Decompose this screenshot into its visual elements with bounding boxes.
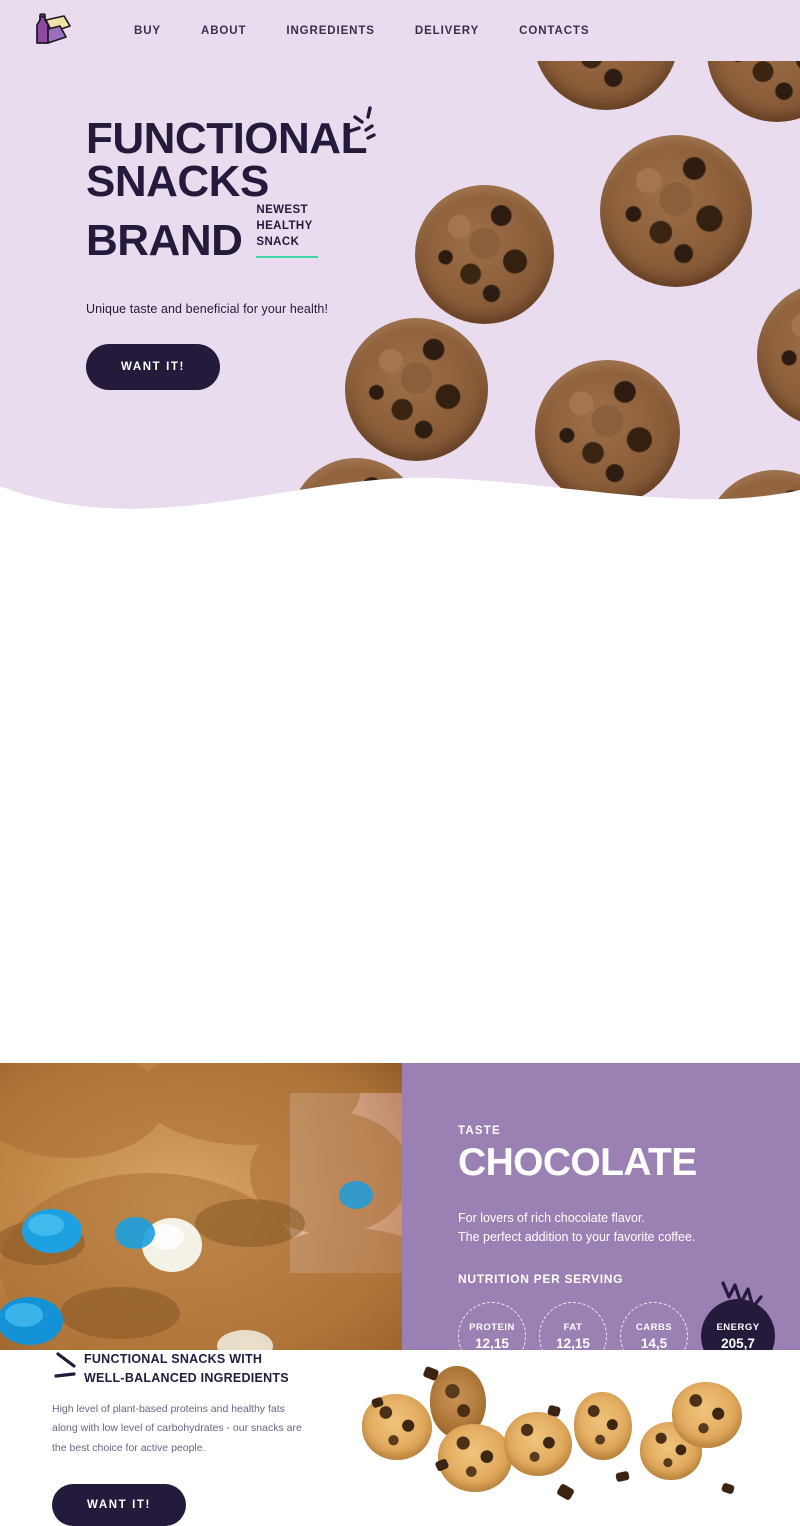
hero-title-line-3: BRAND [86,220,242,263]
taste-description: For lovers of rich chocolate flavor. The… [458,1209,800,1247]
taste-description-line-1: For lovers of rich chocolate flavor. [458,1211,645,1225]
feature-cta-button[interactable]: WANT IT! [52,1484,186,1526]
hero-tagline-line-1: NEWEST [256,203,318,219]
taste-section: TASTE CHOCOLATE For lovers of rich choco… [0,1063,800,1350]
nutrition-value: 205,7 [721,1336,755,1350]
hero-tagline-line-3: SNACK [256,235,318,251]
nutrition-key: FAT [564,1322,583,1333]
hero-section: BUY ABOUT INGREDIENTS DELIVERY CONTACTS … [0,0,800,532]
cookie-closeup-photo [0,1063,402,1350]
nav-link-about[interactable]: ABOUT [181,19,266,43]
hero-subtitle: Unique taste and beneficial for your hea… [86,302,367,316]
taste-label: TASTE [458,1125,800,1137]
zigzag-burst-icon [717,1275,767,1327]
nutrition-key: CARBS [636,1322,672,1333]
nutrition-item-protein: PROTEIN 12,15 [458,1302,526,1350]
nutrition-item-energy: ENERGY 205,7 [701,1299,775,1350]
taste-description-line-2: The perfect addition to your favorite co… [458,1230,695,1244]
nutrition-value: 14,5 [641,1336,667,1350]
nutrition-value: 12,15 [475,1336,509,1350]
taste-name: CHOCOLATE [458,1143,800,1184]
nutrition-list: PROTEIN 12,15 FAT 12,15 CARBS 14,5 ENERG… [458,1302,800,1350]
nav-link-delivery[interactable]: DELIVERY [395,19,499,43]
nutrition-key: PROTEIN [469,1322,515,1333]
tagline-underline [256,256,318,259]
bottle-and-snack-logo-icon[interactable] [30,10,74,52]
nav-link-ingredients[interactable]: INGREDIENTS [266,19,395,43]
hero-tagline-line-2: HEALTHY [256,219,318,235]
hero-tagline: NEWEST HEALTHY SNACK [256,203,318,262]
hero-title-line-2: SNACKS [86,161,367,204]
nutrition-value: 12,15 [556,1336,590,1350]
feature-heading-line-1: FUNCTIONAL SNACKS WITH [84,1352,262,1366]
nav-links: BUY ABOUT INGREDIENTS DELIVERY CONTACTS [114,19,609,43]
main-navbar: BUY ABOUT INGREDIENTS DELIVERY CONTACTS [0,0,800,61]
hero-brand-row: BRAND NEWEST HEALTHY SNACK [86,203,367,262]
taste-panel: TASTE CHOCOLATE For lovers of rich choco… [402,1063,800,1350]
feature-body: High level of plant-based proteins and h… [52,1400,302,1458]
wave-divider [0,394,800,532]
hero-title-line-1: FUNCTIONAL [86,118,367,161]
about-section: WHAT DOES IT MEAN FUNCTIONAL SNACKS? Sna… [0,532,800,832]
hero-copy: FUNCTIONAL SNACKS BRAND NEWEST HEALTHY S… [86,118,367,390]
nav-link-contacts[interactable]: CONTACTS [499,19,609,43]
dash-marker-icon [54,1350,80,1384]
feature-heading-line-2: WELL-BALANCED INGREDIENTS [84,1371,289,1385]
nutrition-item-fat: FAT 12,15 [539,1302,607,1350]
feature-heading: FUNCTIONAL SNACKS WITH WELL-BALANCED ING… [84,1350,289,1388]
sparkle-burst-icon [334,104,384,146]
nav-link-buy[interactable]: BUY [114,19,181,43]
falling-cookies-image [352,1364,754,1524]
nutrition-item-carbs: CARBS 14,5 [620,1302,688,1350]
hero-cta-button[interactable]: WANT IT! [86,344,220,390]
